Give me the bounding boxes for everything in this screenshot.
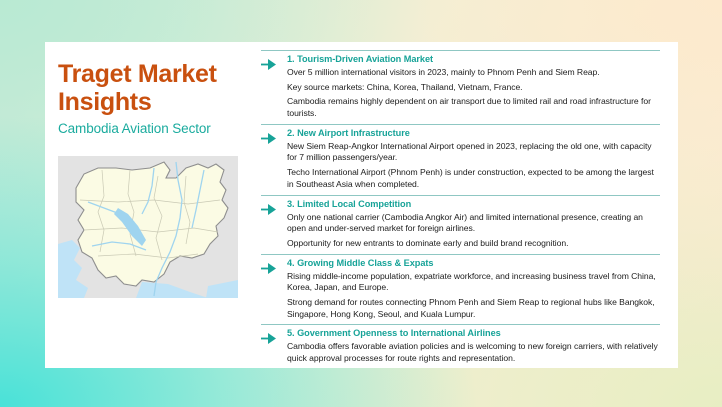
section-row: 1. Tourism-Driven Aviation Market Over 5… [261, 50, 660, 124]
arrow-right-icon [261, 199, 287, 216]
section-paragraph: Cambodia remains highly dependent on air… [287, 96, 660, 119]
section-heading: 3. Limited Local Competition [287, 199, 660, 209]
section-paragraph: Strong demand for routes connecting Phno… [287, 297, 660, 320]
section-body: 5. Government Openness to International … [287, 328, 660, 364]
section-row: 2. New Airport Infrastructure New Siem R… [261, 124, 660, 195]
section-paragraph: Over 5 million international visitors in… [287, 67, 660, 79]
slide-canvas: Traget Market Insights Cambodia Aviation… [0, 0, 722, 407]
section-heading: 5. Government Openness to International … [287, 328, 660, 338]
section-paragraph: Cambodia offers favorable aviation polic… [287, 341, 660, 364]
section-row: 5. Government Openness to International … [261, 324, 660, 368]
section-paragraph: Key source markets: China, Korea, Thaila… [287, 82, 660, 94]
section-paragraph: New Siem Reap-Angkor International Airpo… [287, 141, 660, 164]
section-heading: 1. Tourism-Driven Aviation Market [287, 54, 660, 64]
section-heading: 2. New Airport Infrastructure [287, 128, 660, 138]
section-row: 4. Growing Middle Class & Expats Rising … [261, 254, 660, 325]
left-panel: Traget Market Insights Cambodia Aviation… [45, 42, 253, 368]
page-title: Traget Market Insights [58, 60, 253, 116]
arrow-right-icon [261, 258, 287, 275]
section-row: 3. Limited Local Competition Only one na… [261, 195, 660, 254]
title-block: Traget Market Insights Cambodia Aviation… [58, 60, 253, 136]
page-subtitle: Cambodia Aviation Sector [58, 121, 253, 136]
arrow-right-icon [261, 328, 287, 345]
section-paragraph: Rising middle-income population, expatri… [287, 271, 660, 294]
sections-panel: 1. Tourism-Driven Aviation Market Over 5… [253, 42, 678, 368]
cambodia-map [58, 156, 238, 298]
section-heading: 4. Growing Middle Class & Expats [287, 258, 660, 268]
section-body: 3. Limited Local Competition Only one na… [287, 199, 660, 250]
section-body: 2. New Airport Infrastructure New Siem R… [287, 128, 660, 191]
section-paragraph: Opportunity for new entrants to dominate… [287, 238, 660, 250]
section-paragraph: Only one national carrier (Cambodia Angk… [287, 212, 660, 235]
content-card: Traget Market Insights Cambodia Aviation… [45, 42, 678, 368]
arrow-right-icon [261, 128, 287, 145]
arrow-right-icon [261, 54, 287, 71]
section-body: 4. Growing Middle Class & Expats Rising … [287, 258, 660, 321]
cambodia-map-svg [58, 156, 238, 298]
section-body: 1. Tourism-Driven Aviation Market Over 5… [287, 54, 660, 120]
section-paragraph: Techo International Airport (Phnom Penh)… [287, 167, 660, 190]
